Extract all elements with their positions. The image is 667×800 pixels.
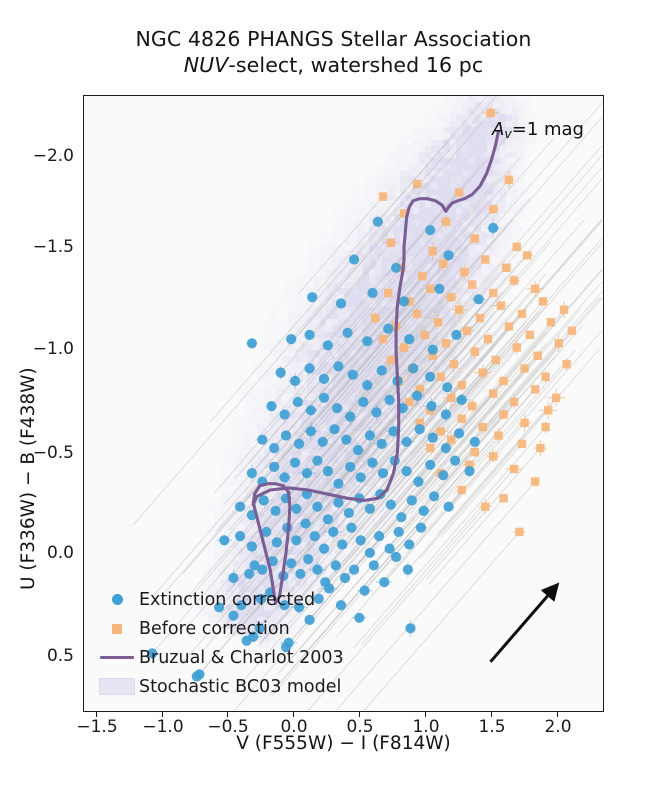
y-axis-label: U (F336W) − B (F438W)	[18, 367, 39, 590]
ytick-label: −1.5	[8, 237, 74, 257]
av-symbol: A	[492, 119, 504, 140]
legend-label: Extinction corrected	[139, 590, 315, 610]
av-subscript: v	[504, 126, 511, 141]
legend-marker-patch-icon	[95, 678, 139, 695]
legend-label: Before correction	[139, 619, 290, 639]
chart-title-line1: NGC 4826 PHANGS Stellar Association	[0, 26, 667, 52]
legend-item-extinction-corrected[interactable]: Extinction corrected	[95, 585, 395, 614]
legend-marker-square-icon	[95, 624, 139, 634]
chart-title-subtitle-rest: -select, watershed 16 pc	[228, 53, 483, 77]
ytick-label: 0.5	[8, 646, 74, 666]
ytick-label: −2.0	[8, 146, 74, 166]
extinction-vector-label: Av=1 mag	[492, 119, 584, 141]
chart-title-italic-token: NUV	[184, 53, 229, 77]
figure-canvas: NGC 4826 PHANGS Stellar Association NUV-…	[0, 0, 667, 800]
chart-legend: Extinction corrected Before correction B…	[95, 585, 395, 701]
extinction-vector-arrow	[491, 591, 553, 662]
legend-label: Bruzual & Charlot 2003	[139, 648, 344, 668]
legend-item-before-correction[interactable]: Before correction	[95, 614, 395, 643]
legend-item-bc03-track[interactable]: Bruzual & Charlot 2003	[95, 643, 395, 672]
chart-title-line2: NUV-select, watershed 16 pc	[0, 52, 667, 78]
legend-item-stochastic-model[interactable]: Stochastic BC03 model	[95, 672, 395, 701]
legend-marker-circle-icon	[95, 594, 139, 605]
ytick-label: −1.0	[8, 339, 74, 359]
x-axis-label: V (F555W) − I (F814W)	[83, 733, 604, 754]
av-rest: =1 mag	[512, 119, 584, 140]
legend-marker-line-icon	[95, 656, 139, 659]
legend-label: Stochastic BC03 model	[139, 677, 341, 697]
chart-title-block: NGC 4826 PHANGS Stellar Association NUV-…	[0, 26, 667, 78]
